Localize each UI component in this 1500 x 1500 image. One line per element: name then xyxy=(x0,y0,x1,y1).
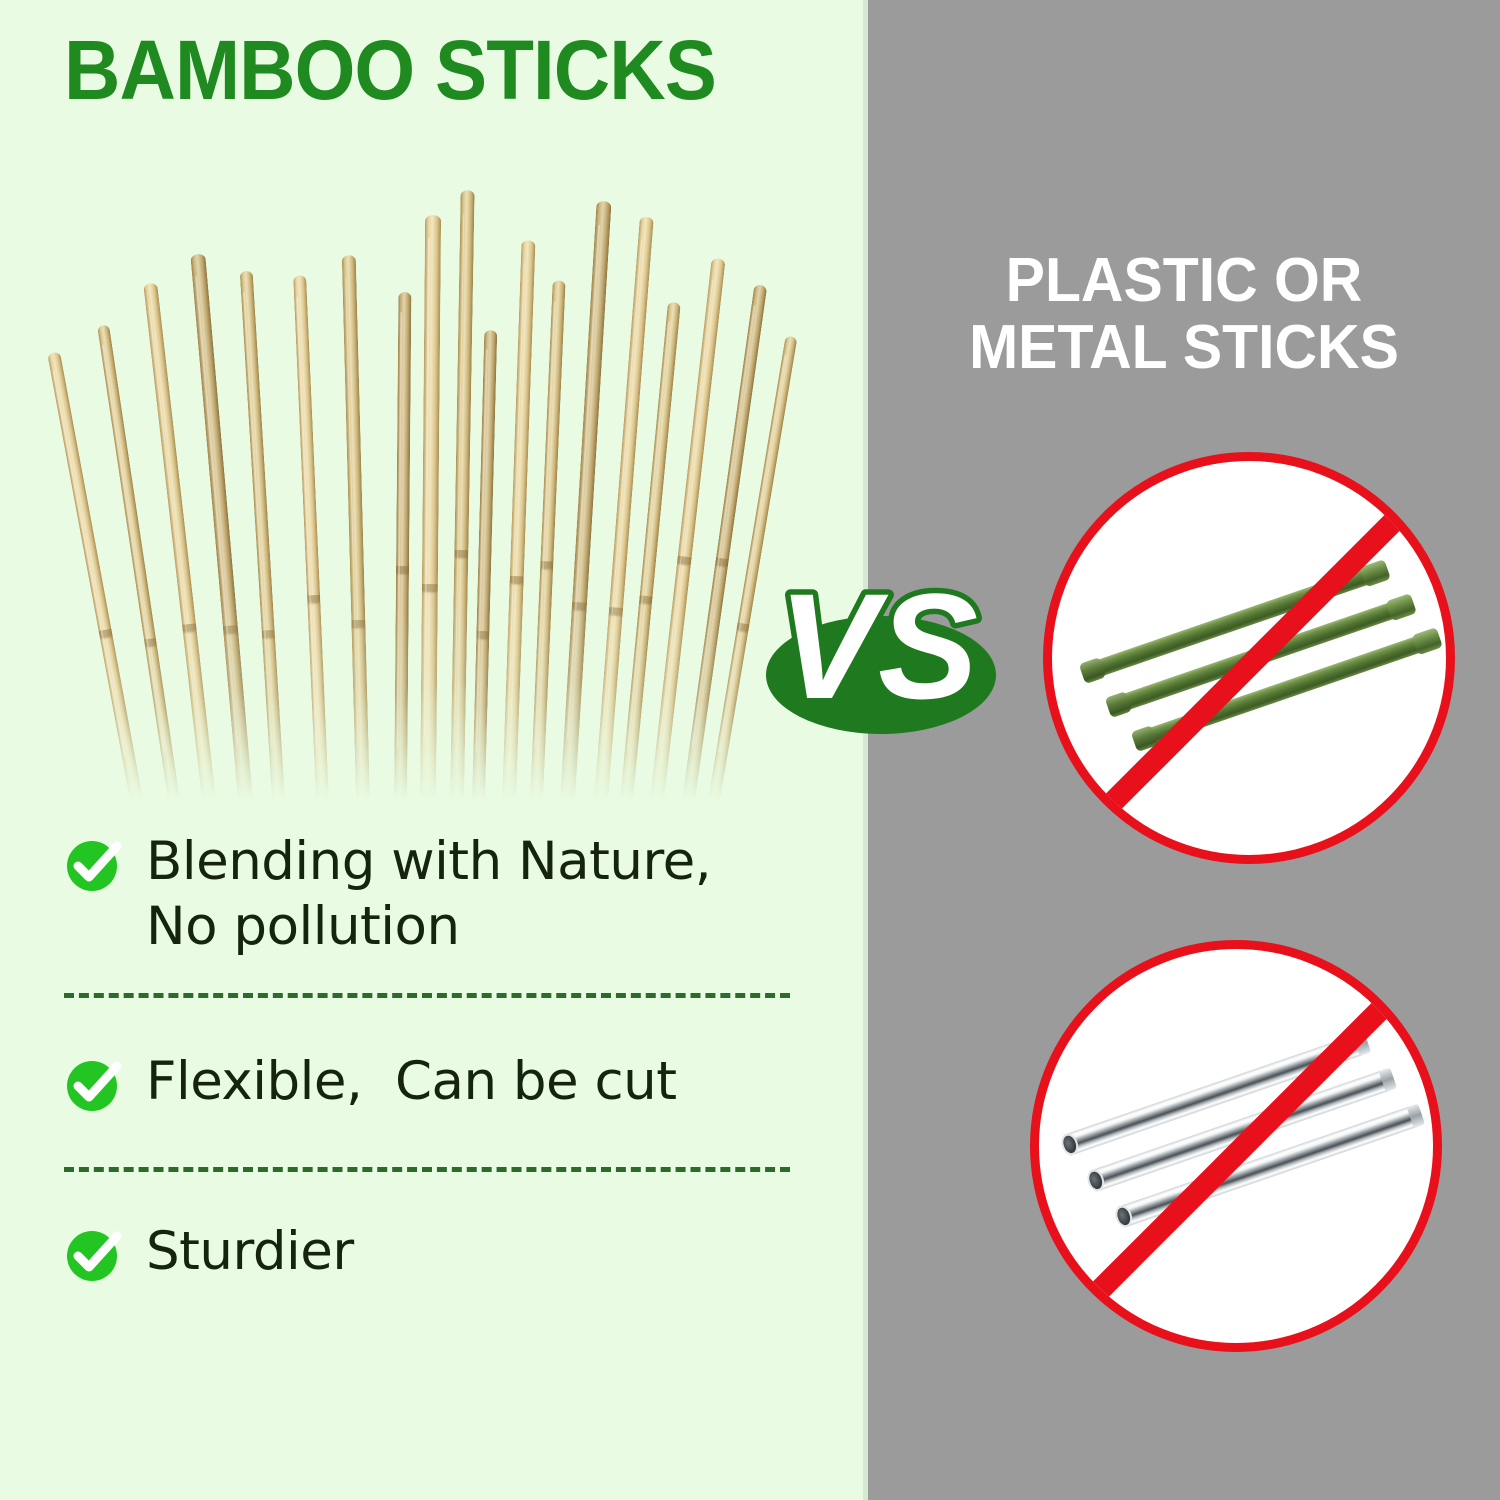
bamboo-cane xyxy=(240,271,285,801)
feature-list: Blending with Nature, No pollution Flexi… xyxy=(64,830,804,1285)
bamboo-cane xyxy=(650,258,726,801)
svg-text:VS: VS xyxy=(778,562,978,730)
feature-label: Blending with Nature, No pollution xyxy=(146,830,711,959)
prohibition-circle-metal xyxy=(1030,940,1442,1352)
feature-item-2: Flexible, Can be cut xyxy=(64,1050,804,1115)
check-circle-icon xyxy=(64,1056,122,1114)
spacer xyxy=(64,998,804,1050)
bamboo-cane xyxy=(530,280,566,800)
right-title-line1: PLASTIC OR xyxy=(1006,246,1363,315)
bamboo-cane xyxy=(394,292,411,800)
right-panel-title: PLASTIC OR METAL STICKS xyxy=(884,248,1484,382)
bamboo-cane xyxy=(293,275,329,800)
bamboo-cane xyxy=(502,240,536,800)
bamboo-cane xyxy=(472,330,497,800)
feature-label: Sturdier xyxy=(146,1220,354,1285)
spacer xyxy=(64,1115,804,1167)
right-title-line2: METAL STICKS xyxy=(884,315,1484,382)
check-circle-icon xyxy=(64,1226,122,1284)
bamboo-cane xyxy=(342,255,370,800)
vs-label-graphic: VS xyxy=(766,560,996,740)
bamboo-cane xyxy=(450,190,475,800)
spacer xyxy=(64,959,804,993)
infographic-canvas: BAMBOO STICKS Blending with Nature, No p… xyxy=(0,0,1500,1500)
bamboo-canes-image xyxy=(120,160,740,800)
bamboo-cane xyxy=(420,215,441,800)
prohibition-circle-plastic xyxy=(1043,452,1455,864)
prohibition-slash xyxy=(1049,957,1432,1340)
spacer xyxy=(64,1172,804,1220)
vs-badge: VS xyxy=(766,560,996,740)
check-circle-icon xyxy=(64,836,122,894)
feature-item-3: Sturdier xyxy=(64,1220,804,1285)
left-panel-title: BAMBOO STICKS xyxy=(64,28,716,112)
feature-label: Flexible, Can be cut xyxy=(146,1050,677,1115)
feature-item-1: Blending with Nature, No pollution xyxy=(64,830,804,959)
